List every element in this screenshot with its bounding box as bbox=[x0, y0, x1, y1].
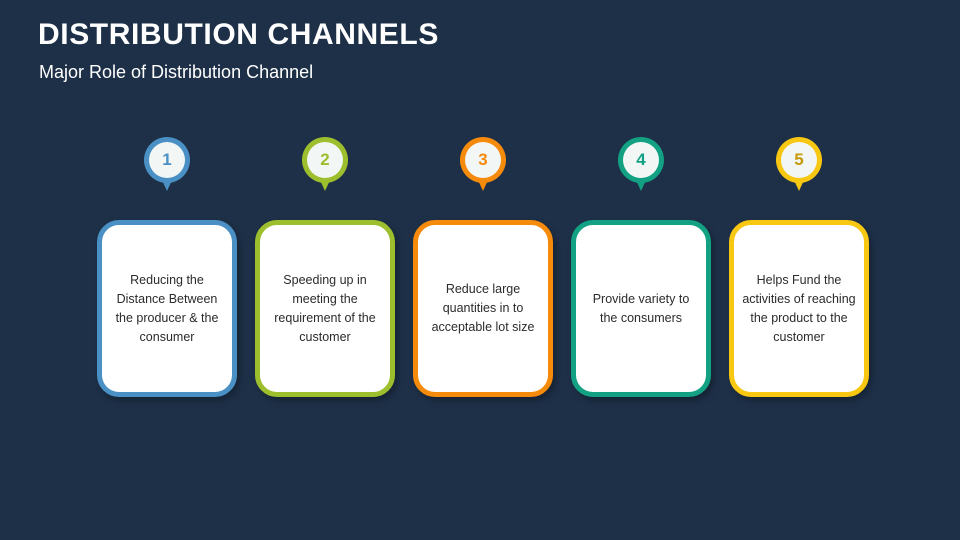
channel-item-1[interactable]: 1 Reducing the Distance Between the prod… bbox=[97, 137, 237, 407]
channel-card-1[interactable]: Reducing the Distance Between the produc… bbox=[97, 220, 237, 397]
page-title: DISTRIBUTION CHANNELS bbox=[38, 18, 439, 52]
channel-card-2[interactable]: Speeding up in meeting the requirement o… bbox=[255, 220, 395, 397]
channel-text-4: Provide variety to the consumers bbox=[576, 290, 706, 328]
channels-row: 1 Reducing the Distance Between the prod… bbox=[97, 137, 872, 407]
page-subtitle: Major Role of Distribution Channel bbox=[39, 62, 313, 83]
channel-item-2[interactable]: 2 Speeding up in meeting the requirement… bbox=[255, 137, 395, 407]
channel-text-2: Speeding up in meeting the requirement o… bbox=[260, 271, 390, 347]
pin-number-5: 5 bbox=[781, 142, 817, 178]
channel-item-4[interactable]: 4 Provide variety to the consumers bbox=[571, 137, 711, 407]
pin-marker-1: 1 bbox=[144, 137, 190, 193]
pin-marker-3: 3 bbox=[460, 137, 506, 193]
channel-card-5[interactable]: Helps Fund the activities of reaching th… bbox=[729, 220, 869, 397]
channel-item-5[interactable]: 5 Helps Fund the activities of reaching … bbox=[729, 137, 869, 407]
pin-number-1: 1 bbox=[149, 142, 185, 178]
pin-number-4: 4 bbox=[623, 142, 659, 178]
slide-canvas: DISTRIBUTION CHANNELS Major Role of Dist… bbox=[0, 0, 960, 540]
pin-marker-4: 4 bbox=[618, 137, 664, 193]
pin-marker-5: 5 bbox=[776, 137, 822, 193]
pin-marker-2: 2 bbox=[302, 137, 348, 193]
channel-text-3: Reduce large quantities in to acceptable… bbox=[418, 280, 548, 337]
channel-card-3[interactable]: Reduce large quantities in to acceptable… bbox=[413, 220, 553, 397]
pin-number-2: 2 bbox=[307, 142, 343, 178]
channel-text-5: Helps Fund the activities of reaching th… bbox=[734, 271, 864, 347]
channel-item-3[interactable]: 3 Reduce large quantities in to acceptab… bbox=[413, 137, 553, 407]
channel-text-1: Reducing the Distance Between the produc… bbox=[102, 271, 232, 347]
channel-card-4[interactable]: Provide variety to the consumers bbox=[571, 220, 711, 397]
pin-number-3: 3 bbox=[465, 142, 501, 178]
